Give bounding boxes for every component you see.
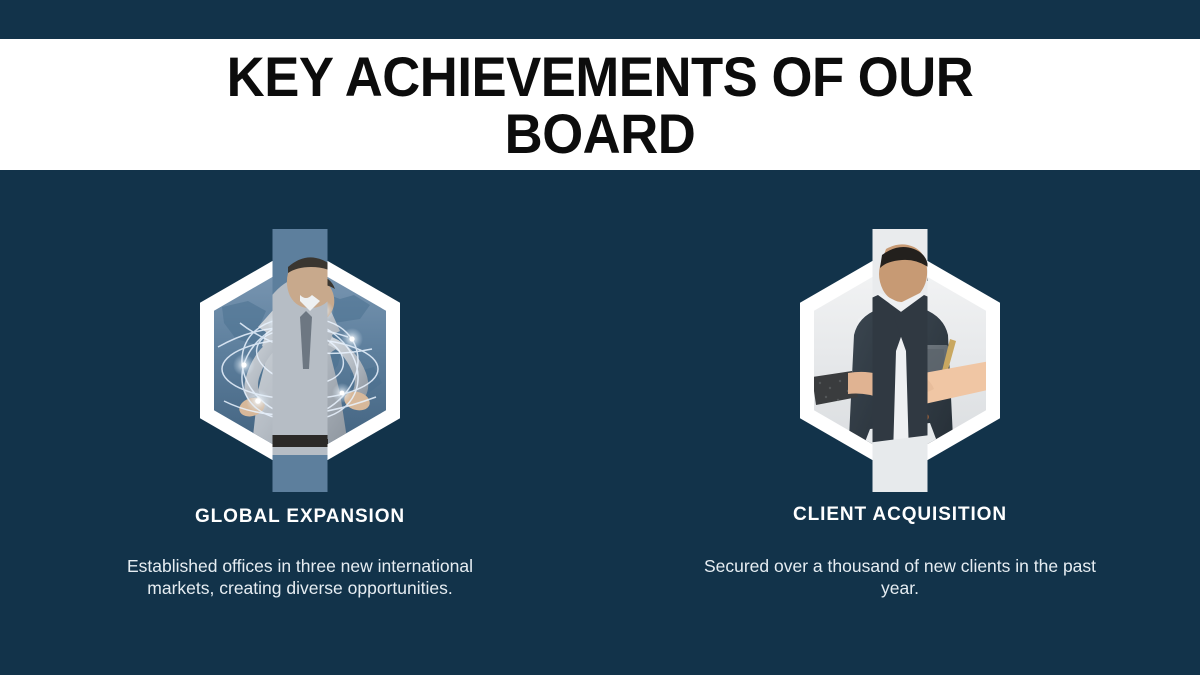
achievements-columns: GLOBAL EXPANSION Established offices in … xyxy=(0,170,1200,675)
hexagon-media-global-expansion xyxy=(200,245,400,476)
achievement-heading-global-expansion: GLOBAL EXPANSION xyxy=(195,506,405,528)
achievement-heading-client-acquisition: CLIENT ACQUISITION xyxy=(793,504,1007,526)
page-title: KEY ACHIEVEMENTS OF OUR BOARD xyxy=(215,48,986,162)
achievement-item-client-acquisition: CLIENT ACQUISITION Secured over a thousa… xyxy=(600,170,1200,675)
achievement-body-client-acquisition: Secured over a thousand of new clients i… xyxy=(700,556,1100,599)
title-band: KEY ACHIEVEMENTS OF OUR BOARD xyxy=(0,39,1200,170)
slide-root: KEY ACHIEVEMENTS OF OUR BOARD xyxy=(0,0,1200,675)
achievement-body-global-expansion: Established offices in three new interna… xyxy=(110,556,490,599)
hexagon-media-client-acquisition xyxy=(800,245,1000,476)
achievement-item-global-expansion: GLOBAL EXPANSION Established offices in … xyxy=(0,170,600,675)
